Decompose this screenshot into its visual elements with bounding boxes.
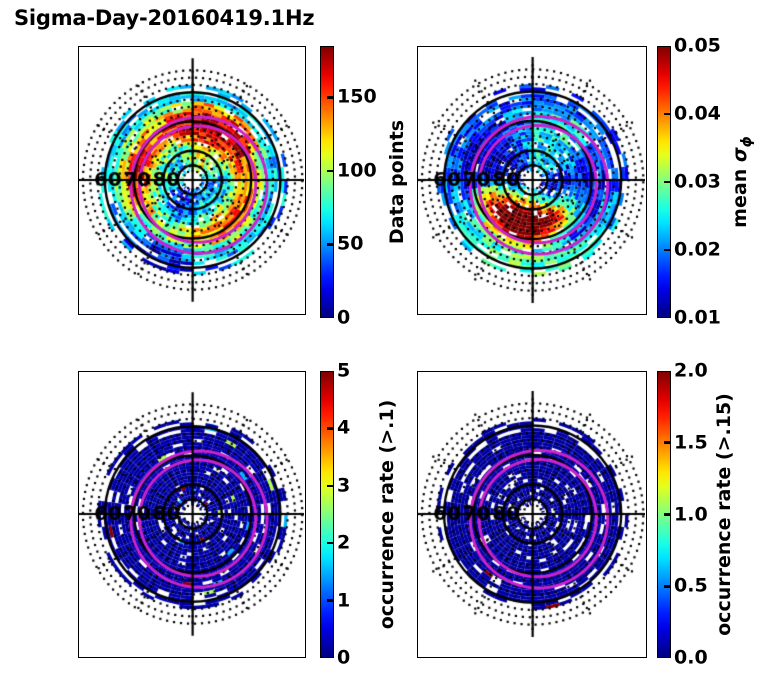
- colorbar-occurrence-rate-0p15-tick-label: 2.0: [674, 362, 708, 381]
- colorbar-data-points-tick: [327, 96, 334, 99]
- colorbar-data-points-tick: [327, 170, 334, 173]
- panel-data-points[interactable]: [78, 46, 306, 315]
- colorbar-occurrence-rate-0p15-tick-label: 0.0: [674, 649, 708, 668]
- colorbar-data-points-tick: [327, 243, 334, 246]
- colorbar-occurrence-rate-0p1-tick-label: 0: [337, 649, 350, 668]
- colorbar-mean-sigma-phi-tick: [664, 249, 671, 252]
- colorbar-mean-sigma-phi-label: mean σϕ: [731, 46, 754, 318]
- figure-root: Sigma-Day-20160419.1Hz 150100500Data poi…: [0, 0, 759, 674]
- colorbar-occurrence-rate-0p1-tick: [327, 427, 334, 430]
- colorbar-data-points-label: Data points: [388, 46, 407, 318]
- colorbar-occurrence-rate-0p15-tick-label: 0.5: [674, 577, 708, 596]
- colorbar-mean-sigma-phi-tick-label: 0.04: [674, 105, 721, 124]
- colorbar-occurrence-rate-0p15-tick-label: 1.5: [674, 433, 708, 452]
- colorbar-occurrence-rate-0p15-tick: [664, 441, 671, 444]
- colorbar-occurrence-rate-0p1-tick-label: 5: [337, 362, 350, 381]
- colorbar-mean-sigma-phi-tick-label: 0.03: [674, 173, 721, 192]
- colorbar-occurrence-rate-0p1-tick-label: 2: [337, 534, 350, 553]
- colorbar-occurrence-rate-0p1-tick: [327, 599, 334, 602]
- panel-occurrence-rate-0p1[interactable]: [78, 371, 306, 658]
- polar-plot-data-points: [79, 47, 304, 313]
- panel-mean-sigma-phi[interactable]: [417, 46, 647, 315]
- colorbar-occurrence-rate-0p1-gradient: [320, 371, 334, 658]
- colorbar-mean-sigma-phi-tick-label: 0.01: [674, 309, 721, 328]
- colorbar-occurrence-rate-0p15-tick: [664, 585, 671, 588]
- polar-plot-occurrence-rate-0p1: [79, 372, 304, 656]
- colorbar-occurrence-rate-0p1-label: occurrence rate (>.1): [378, 371, 397, 658]
- colorbar-data-points-tick-label: 50: [337, 235, 363, 254]
- colorbar-occurrence-rate-0p15-label: occurrence rate (>.15): [715, 371, 734, 658]
- colorbar-data-points-gradient: [320, 46, 334, 318]
- colorbar-occurrence-rate-0p1-tick-label: 1: [337, 591, 350, 610]
- colorbar-occurrence-rate-0p1-tick-label: 4: [337, 419, 350, 438]
- colorbar-data-points-tick-label: 0: [337, 309, 350, 328]
- colorbar-data-points-tick-label: 100: [337, 161, 377, 180]
- polar-plot-mean-sigma-phi: [418, 47, 645, 313]
- colorbar-mean-sigma-phi-tick: [664, 113, 671, 116]
- colorbar-occurrence-rate-0p1-tick: [327, 542, 334, 545]
- panel-occurrence-rate-0p15[interactable]: [417, 371, 647, 658]
- colorbar-mean-sigma-phi-tick-label: 0.05: [674, 37, 721, 56]
- colorbar-occurrence-rate-0p15-tick: [664, 513, 671, 516]
- page-title: Sigma-Day-20160419.1Hz: [14, 6, 314, 30]
- colorbar-data-points-tick-label: 150: [337, 88, 377, 107]
- colorbar-occurrence-rate-0p15-tick-label: 1.0: [674, 505, 708, 524]
- colorbar-mean-sigma-phi-tick-label: 0.02: [674, 241, 721, 260]
- colorbar-occurrence-rate-0p1-tick: [327, 485, 334, 488]
- colorbar-mean-sigma-phi-tick: [664, 181, 671, 184]
- colorbar-occurrence-rate-0p1-tick-label: 3: [337, 476, 350, 495]
- polar-plot-occurrence-rate-0p15: [418, 372, 645, 656]
